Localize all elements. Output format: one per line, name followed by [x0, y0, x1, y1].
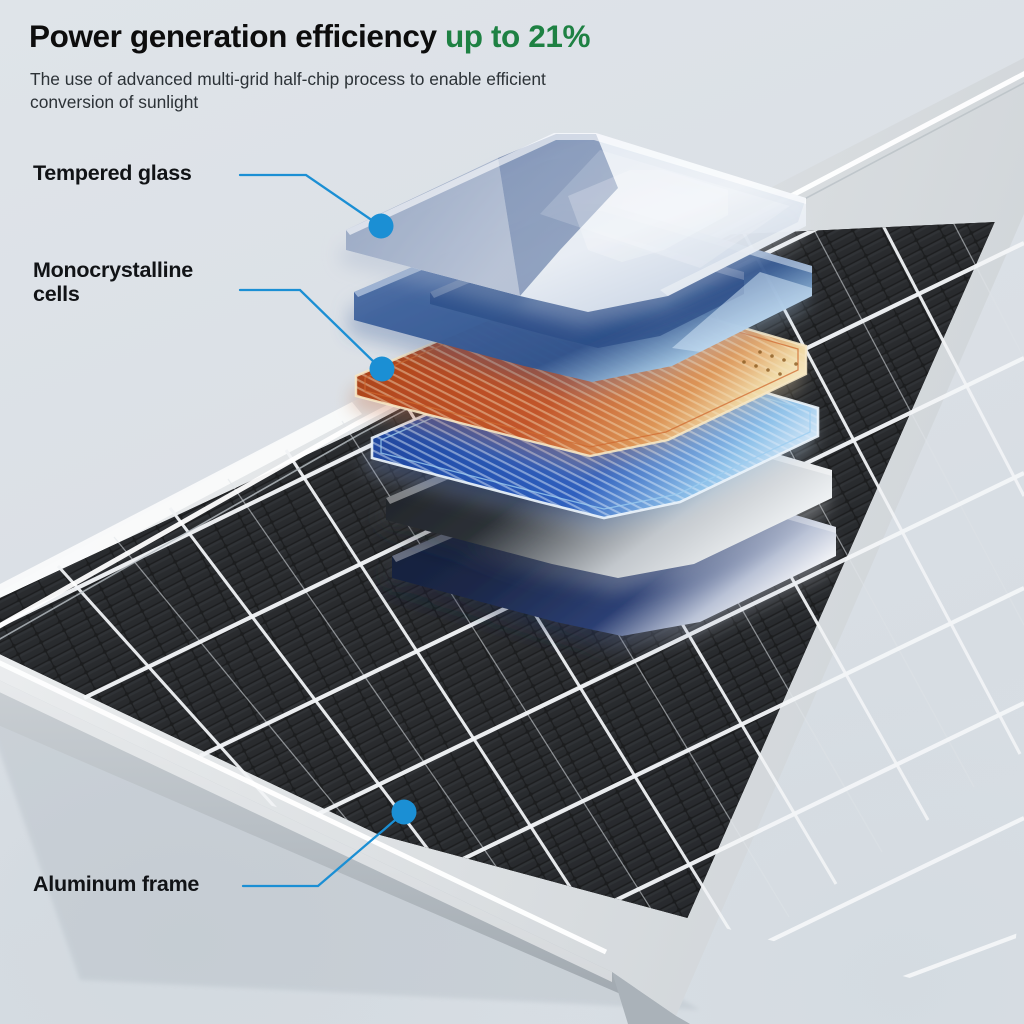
solar-panel-illustration	[0, 0, 1024, 1024]
callout-label-monocrystalline-line2: cells	[33, 282, 193, 306]
page-subtitle: The use of advanced multi-grid half-chip…	[30, 68, 590, 114]
efficiency-highlight: up to 21%	[445, 18, 590, 54]
callout-dot-monocrystalline[interactable]	[370, 357, 395, 382]
callout-label-aluminum-frame: Aluminum frame	[33, 872, 199, 896]
callout-label-tempered-glass: Tempered glass	[33, 161, 192, 185]
callout-label-monocrystalline-line1: Monocrystalline	[33, 258, 193, 282]
page-title-main: Power generation efficiency	[29, 18, 437, 54]
page-title: Power generation efficiency up to 21%	[29, 20, 849, 53]
leader-tempered-glass	[240, 175, 376, 223]
callout-dot-tempered-glass[interactable]	[369, 214, 394, 239]
callout-label-monocrystalline: Monocrystalline cells	[33, 258, 193, 307]
infographic-canvas: Power generation efficiency up to 21% Th…	[0, 0, 1024, 1024]
callout-dot-aluminum-frame[interactable]	[392, 800, 417, 825]
